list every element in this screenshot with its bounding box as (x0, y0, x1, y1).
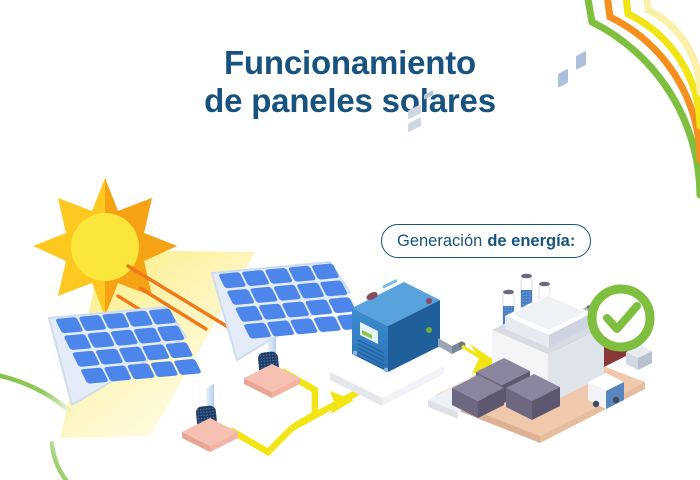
check-badge (589, 286, 653, 350)
cable-arrowhead-2 (470, 344, 500, 374)
badge-label-normal: Generación (397, 232, 482, 251)
arc-green-small-icon (52, 443, 66, 480)
factory-truck (588, 373, 624, 409)
sun-beam (60, 250, 255, 438)
factory-containers (452, 358, 560, 480)
cable-arrowhead-1 (330, 391, 354, 414)
inverter-connector (438, 338, 465, 354)
inverter-platform (330, 340, 444, 406)
infographic-canvas: Funcionamiento de paneles solares (0, 0, 700, 480)
inverter-ports (408, 90, 433, 333)
solar-cells-front (55, 308, 202, 383)
energy-cable (230, 371, 384, 452)
energy-generation-badge[interactable]: Generación de energía: (381, 224, 591, 258)
factory-ground (428, 342, 645, 443)
factory-smokestacks (503, 274, 550, 336)
sun-rays (118, 266, 228, 332)
solar-panel-rear (212, 262, 365, 398)
energy-cable-2 (462, 344, 500, 374)
sun-icon (33, 178, 177, 316)
arc-green-large-icon (0, 372, 88, 430)
badge-label-bold: de energía: (487, 232, 575, 251)
page-title: Funcionamiento de paneles solares (0, 44, 700, 119)
solar-cells-rear (218, 263, 365, 338)
page-title-line-1: Funcionamiento (0, 44, 700, 82)
page-title-line-2: de paneles solares (0, 82, 700, 120)
solar-panel-front (49, 307, 238, 452)
factory-side-vehicle (626, 345, 652, 370)
